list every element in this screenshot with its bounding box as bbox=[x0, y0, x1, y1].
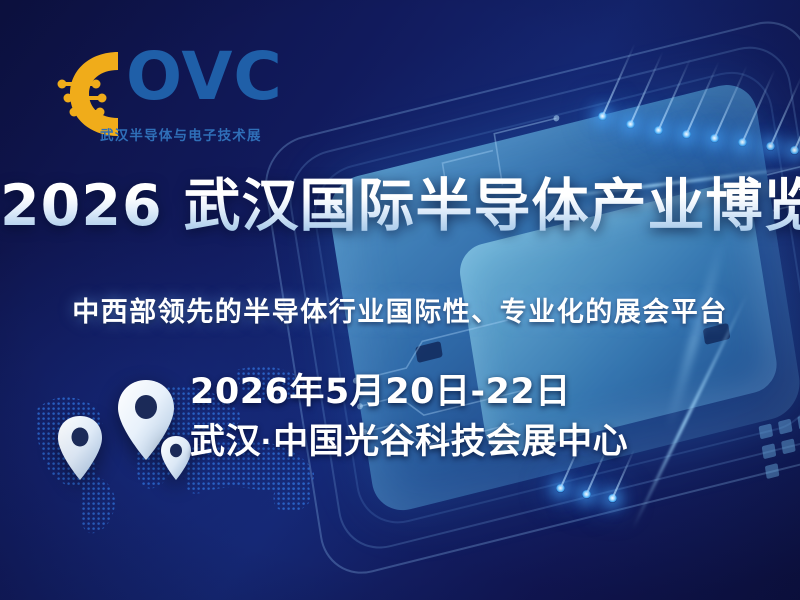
brand-logo[interactable]: OVC 武汉半导体与电子技术展 bbox=[56, 46, 296, 146]
event-venue: 武汉·中国光谷科技会展中心 bbox=[190, 421, 628, 462]
light-streak-4 bbox=[665, 236, 727, 430]
page-title: 2026 武汉国际半导体产业博览会 bbox=[0, 176, 800, 236]
headline-block: 2026 武汉国际半导体产业博览会 bbox=[0, 176, 800, 236]
map-pin-small bbox=[159, 434, 193, 482]
map-pin-medium bbox=[56, 414, 104, 482]
event-info: 2026年5月20日-22日 武汉·中国光谷科技会展中心 bbox=[190, 372, 628, 463]
logo-wordmark: OVC bbox=[126, 44, 283, 110]
exhibition-poster: OVC 武汉半导体与电子技术展 2026 武汉国际半导体产业博览会 中西部领先的… bbox=[0, 0, 800, 600]
headline-subtitle: 中西部领先的半导体行业国际性、专业化的展会平台 bbox=[0, 290, 800, 329]
map-pin-large bbox=[116, 378, 176, 462]
logo-subtitle: 武汉半导体与电子技术展 bbox=[100, 124, 262, 144]
light-streak-3 bbox=[632, 294, 749, 529]
chip-notch-left bbox=[415, 341, 443, 363]
event-date: 2026年5月20日-22日 bbox=[190, 372, 628, 413]
